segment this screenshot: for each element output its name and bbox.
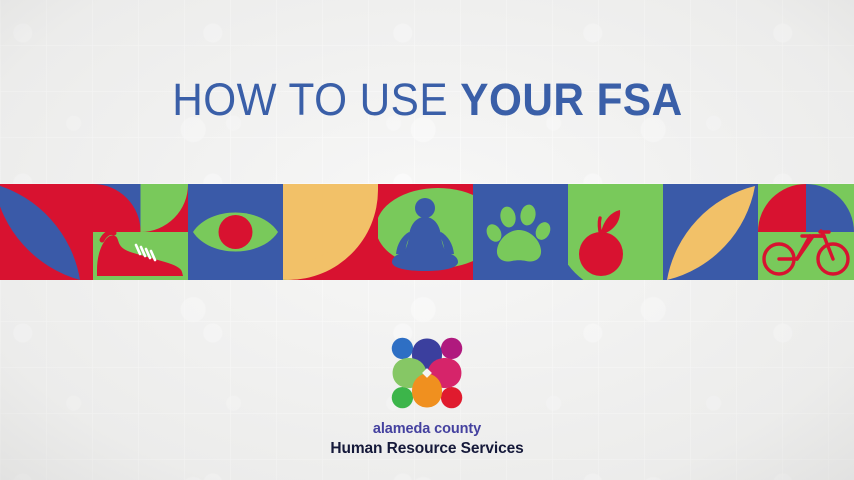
banner-tile-lens-blue bbox=[0, 184, 93, 280]
logo-circle-bottom-right bbox=[441, 387, 462, 408]
banner-tile-meditation bbox=[378, 184, 473, 280]
banner-tile-shoe bbox=[93, 184, 188, 280]
banner-tile-apple bbox=[568, 184, 663, 280]
wellness-icon-banner bbox=[0, 184, 854, 280]
title-container: HOW TO USE YOUR FSA bbox=[0, 74, 854, 126]
banner-tile-leaf-yellow bbox=[663, 184, 758, 280]
page-title-emphasis: YOUR FSA bbox=[460, 74, 682, 125]
logo-text-alameda-county: alameda county bbox=[0, 420, 854, 438]
page-title-plain: HOW TO USE bbox=[172, 74, 460, 125]
page-title: HOW TO USE YOUR FSA bbox=[172, 74, 682, 126]
logo-block: alameda county Human Resource Services bbox=[0, 332, 854, 459]
logo-circle-top-left bbox=[392, 338, 413, 359]
banner-tile-bicycle bbox=[758, 184, 854, 280]
logo-circle-top-right bbox=[441, 338, 462, 359]
alameda-county-people-logo-icon bbox=[386, 332, 468, 414]
logo-text-human-resource-services: Human Resource Services bbox=[0, 439, 854, 459]
banner-tile-crescent bbox=[283, 184, 378, 280]
banner-tile-paw bbox=[473, 184, 568, 280]
banner-tile-eye bbox=[188, 184, 283, 280]
logo-circle-bottom-left bbox=[392, 387, 413, 408]
